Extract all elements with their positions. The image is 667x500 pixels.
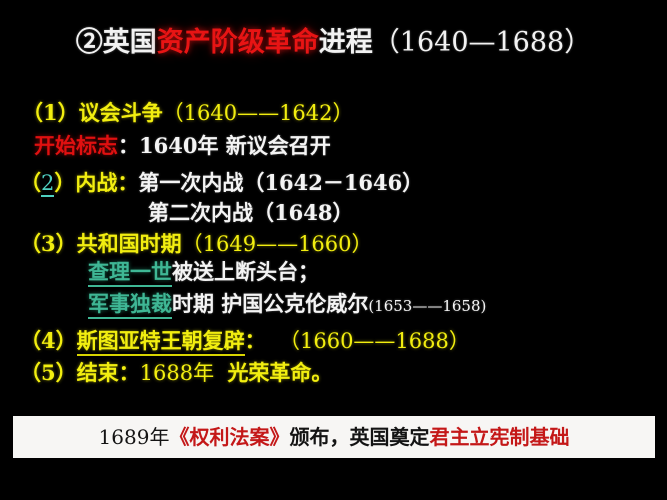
banner-segment-constitutional-monarchy: 君主立宪制基础 (429, 425, 569, 449)
item-2-label: 内战： (75, 170, 138, 195)
banner-segment-bill-of-rights: 《权利法案》 (169, 425, 289, 449)
title-text-red: 资产阶级革命 (157, 27, 319, 58)
item-3-marker: （3） (20, 231, 77, 256)
item-1-marker: （1） (22, 100, 79, 125)
banner-segment-middle: 颁布，英国奠定 (289, 425, 429, 449)
item-1-years: （1640——1642） (163, 101, 354, 125)
item-2-marker-number: 2 (41, 171, 54, 197)
item-2-marker-close: ） (54, 170, 75, 195)
item-4-label: 斯图亚特王朝复辟 (77, 328, 245, 356)
item-5-detail-2: 光荣革命。 (227, 360, 332, 385)
item-4-colon: ： (245, 328, 266, 353)
item-4-years: （1660——1688） (279, 329, 470, 353)
title-marker: ② (76, 27, 103, 58)
conclusion-banner: 1689年 《权利法案》颁布，英国奠定君主立宪制基础 (13, 416, 655, 458)
item-3-sub-1-rest: 被送上断头台； (172, 259, 319, 284)
page-title: ②英国资产阶级革命进程（1640—1688） (0, 26, 667, 60)
item-2-marker-open: （ (20, 170, 41, 195)
slide-canvas: ②英国资产阶级革命进程（1640—1688） （1）议会斗争（1640——164… (0, 0, 667, 500)
title-year-range: （1640—1688） (373, 27, 591, 58)
title-text-white-1: 英国 (103, 27, 157, 58)
item-3-sub-2-years: (1653——1658) (368, 297, 486, 315)
item-5-label: 结束： (77, 360, 140, 385)
item-3-sub-2-rest: 时期 护国公克伦威尔 (172, 291, 368, 316)
list-item-3: （3）共和国时期（1649——1660） (20, 231, 373, 257)
list-item-5: （5）结束：1688年 光荣革命。 (20, 360, 332, 386)
list-item-2: （2）内战：第一次内战（1642－1646） (20, 170, 423, 196)
item-4-marker: （4） (20, 328, 77, 353)
item-5-marker: （5） (20, 360, 77, 385)
item-3-years: （1649——1660） (182, 232, 373, 256)
item-3-label: 共和国时期 (77, 231, 182, 256)
item-2-sub-rest: 第二次内战（1648） (148, 200, 353, 225)
item-2-detail: 第一次内战（1642－1646） (138, 170, 423, 195)
item-1-sub-rest: ：1640年 新议会召开 (118, 133, 331, 158)
list-item-1-sub-1: 开始标志：1640年 新议会召开 (34, 133, 331, 159)
item-5-detail: 1688年 (140, 361, 214, 385)
banner-segment-year: 1689年 (99, 425, 170, 449)
list-item-3-sub-1: 查理一世被送上断头台； (88, 259, 319, 285)
list-item-1: （1）议会斗争（1640——1642） (22, 100, 354, 126)
item-1-label: 议会斗争 (79, 100, 163, 125)
list-item-2-sub-1: 第二次内战（1648） (148, 200, 353, 226)
item-1-sub-highlight: 开始标志 (34, 133, 118, 158)
list-item-4: （4）斯图亚特王朝复辟： （1660——1688） (20, 328, 470, 354)
title-text-white-2: 进程 (319, 27, 373, 58)
item-3-sub-1-highlight: 查理一世 (88, 259, 172, 287)
list-item-3-sub-2: 军事独裁时期 护国公克伦威尔(1653——1658) (88, 291, 486, 319)
item-3-sub-2-highlight: 军事独裁 (88, 291, 172, 319)
